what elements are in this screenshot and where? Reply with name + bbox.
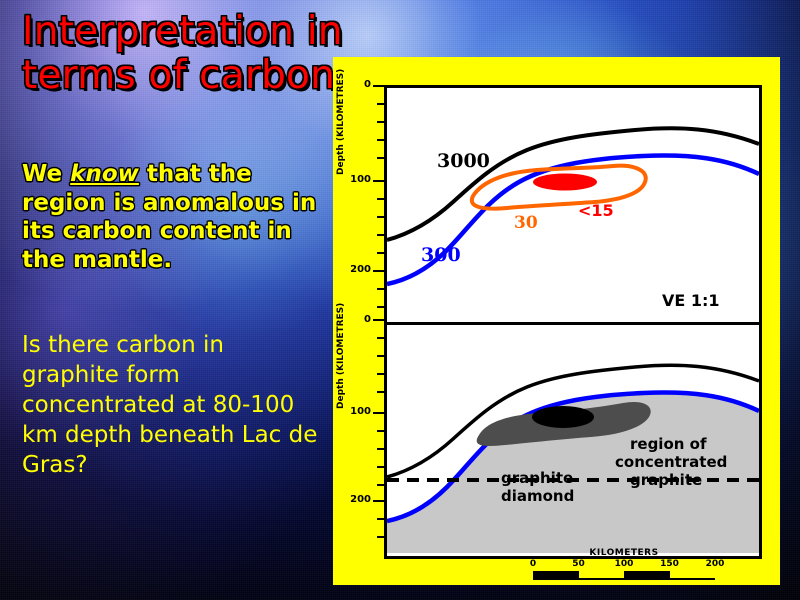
panel-divider [387,322,759,325]
graphite-core-ellipse [532,406,594,428]
tick-mark [377,518,384,520]
tick-mark [377,121,384,123]
contour-label-3000: 3000 [437,150,490,172]
tick-mark [377,536,384,538]
region-of-label: region of [630,435,707,453]
scale-tick-150: 150 [660,559,679,569]
anomaly-core-15 [533,174,597,191]
top-ytick-0: 0 [339,79,371,90]
tick-mark [377,198,384,200]
scale-bar: KILOMETERS 0 50 100 150 200 [533,548,715,580]
scale-tick-100: 100 [615,559,634,569]
concentrated-graphite-label: graphite [630,471,702,489]
scale-tick-0: 0 [530,559,536,569]
diamond-label: diamond [501,487,574,505]
tick-mark [377,306,384,308]
tick-mark [377,430,384,432]
bottom-ytick-100: 100 [339,406,371,417]
scale-bar-graphic [533,571,715,580]
tick-mark [377,216,384,218]
contour-label-15: <15 [578,201,614,220]
tick-mark [377,157,384,159]
scale-tick-200: 200 [706,559,725,569]
paragraph1-emphasis: know [70,161,139,187]
tick-mark [377,355,384,357]
tick-mark [373,270,384,272]
page-title: Interpretation in terms of carbon [22,10,352,98]
paragraph1-before: We [22,161,70,187]
plot-area: 3000 300 30 <15 VE 1:1 graphite diamond … [384,85,762,559]
tick-mark [377,288,384,290]
tick-mark [377,484,384,486]
scale-bar-ticks: 0 50 100 150 200 [533,558,715,571]
tick-mark [377,391,384,393]
scale-bar-segment [624,571,670,578]
body-paragraph-2: Is there carbon in graphite form concent… [22,330,322,480]
scale-bar-caption: KILOMETERS [533,548,715,558]
tick-mark [373,500,384,502]
top-ytick-100: 100 [339,174,371,185]
scale-bar-segment [533,571,579,578]
figure-panel: Depth (KILOMETRES) Depth (KILOMETRES) 0 … [333,57,780,585]
tick-mark [377,466,384,468]
body-paragraph-1: We know that the region is anomalous in … [22,160,322,274]
tick-mark [377,448,384,450]
tick-mark [377,139,384,141]
tick-mark [373,85,384,87]
tick-mark [373,180,384,182]
tick-mark [377,252,384,254]
concentrated-label: concentrated [615,453,727,471]
vertical-exaggeration-label: VE 1:1 [662,291,720,310]
tick-mark [377,373,384,375]
graphite-label: graphite [501,469,573,487]
tick-mark [377,103,384,105]
contour-label-30: 30 [514,213,538,233]
bottom-ytick-0: 0 [339,314,371,325]
scale-tick-50: 50 [572,559,585,569]
slide-canvas: Interpretation in terms of carbon We kno… [0,0,800,600]
tick-mark [373,412,384,414]
bottom-ytick-200: 200 [339,494,371,505]
contour-label-300: 300 [421,244,461,266]
tick-mark [377,234,384,236]
top-ytick-200: 200 [339,264,371,275]
tick-mark [377,337,384,339]
tick-mark [373,319,384,321]
